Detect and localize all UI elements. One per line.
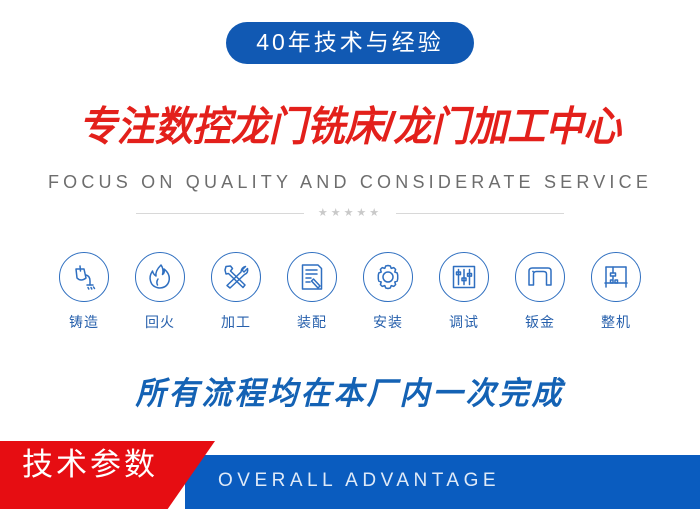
divider-rule-right [396,213,564,214]
process-icon-row: 铸造 回火 加工 [50,252,650,332]
sheet-metal-arch-icon [515,252,565,302]
page-title: 专注数控龙门铣床/龙门加工中心 [0,104,700,153]
process-item-tempering: 回火 [126,252,194,332]
banner-section-subtitle: OVERALL ADVANTAGE [218,471,500,490]
process-label: 整机 [601,312,631,332]
experience-badge: 40年技术与经验 [226,22,474,64]
banner-section-title: 技术参数 [22,449,158,480]
process-label: 加工 [221,312,251,332]
badge-row: 40年技术与经验 [0,22,700,64]
document-assembly-icon [287,252,337,302]
process-label: 安装 [373,312,403,332]
process-item-assembly: 装配 [278,252,346,332]
section-banner: 技术参数 OVERALL ADVANTAGE [0,425,700,531]
process-label: 钣金 [525,312,555,332]
process-label: 铸造 [69,312,99,332]
promo-page: 40年技术与经验 专注数控龙门铣床/龙门加工中心 FOCUS ON QUALIT… [0,0,700,531]
process-item-installation: 安装 [354,252,422,332]
complete-machine-icon [591,252,641,302]
process-item-debugging: 调试 [430,252,498,332]
process-item-sheet-metal: 钣金 [506,252,574,332]
flame-tempering-icon [135,252,185,302]
process-item-machining: 加工 [202,252,270,332]
sliders-tuning-icon [439,252,489,302]
process-label: 回火 [145,312,175,332]
gear-installation-icon [363,252,413,302]
divider-rule-left [136,213,304,214]
process-item-complete-machine: 整机 [582,252,650,332]
process-item-casting: 铸造 [50,252,118,332]
wrench-screwdriver-icon [211,252,261,302]
casting-ladle-pour-icon [59,252,109,302]
page-subtitle: FOCUS ON QUALITY AND CONSIDERATE SERVICE [0,172,700,193]
process-label: 装配 [297,312,327,332]
stars-icon: ★★★★★ [318,208,382,219]
process-tagline: 所有流程均在本厂内一次完成 [0,367,700,413]
process-label: 调试 [449,312,479,332]
star-divider: ★★★★★ [0,208,700,219]
